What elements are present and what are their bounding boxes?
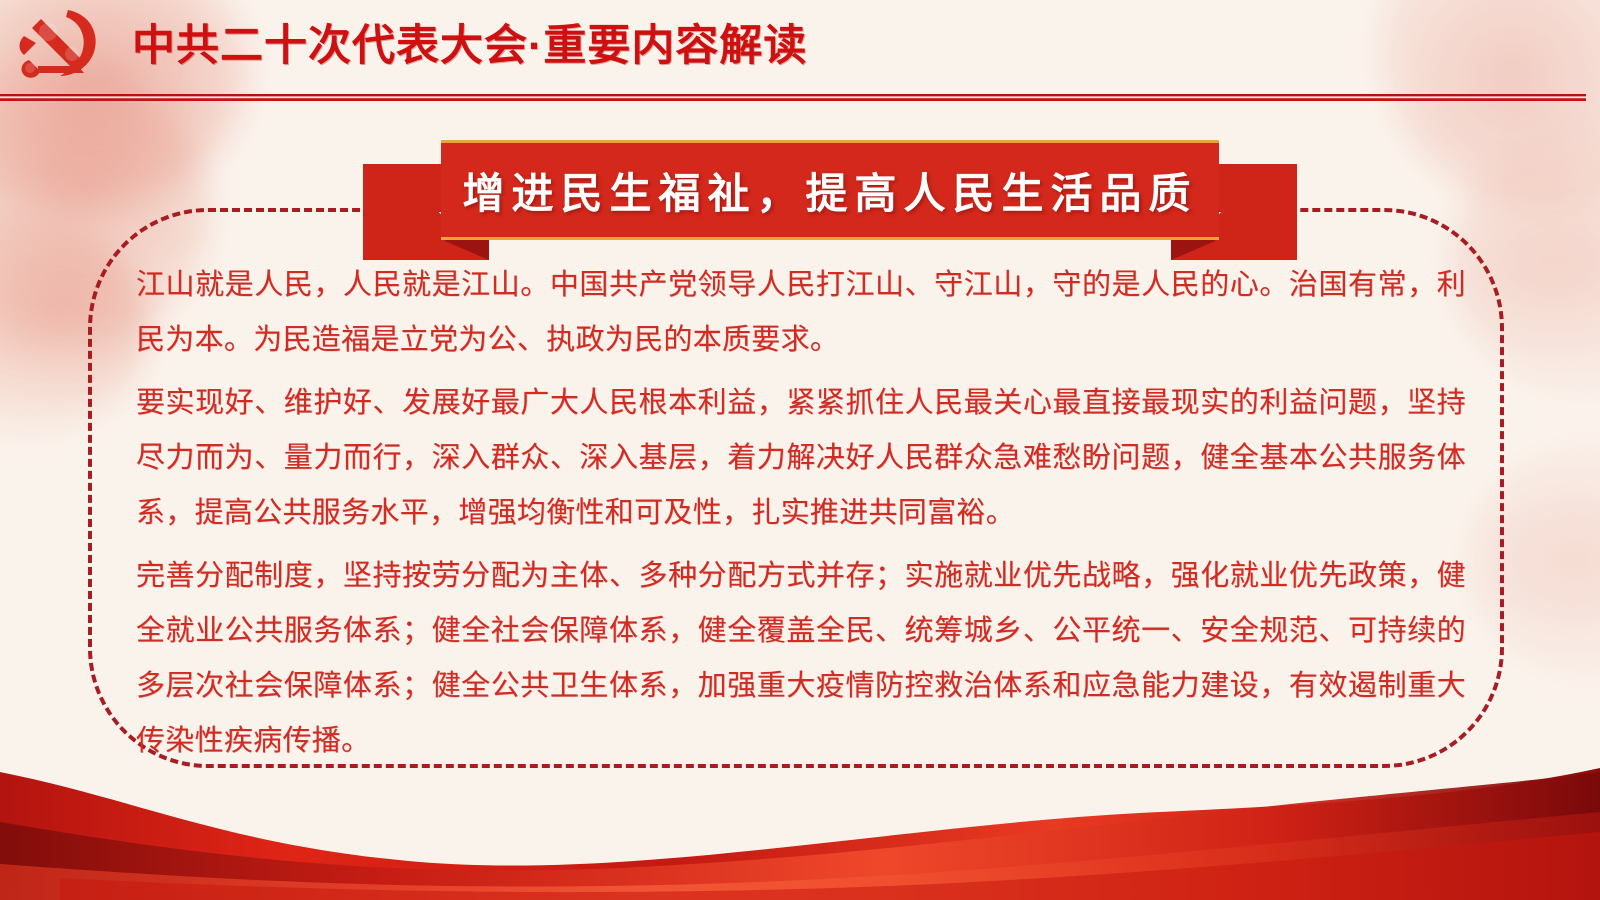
content-body: 江山就是人民，人民就是江山。中国共产党领导人民打江山、守江山，守的是人民的心。治… (136, 258, 1466, 777)
red-silk-wave-decoration (0, 760, 1600, 900)
slide-canvas: 中共二十次代表大会·重要内容解读 增进民生福祉，提高人民生活品质 江山就是人民，… (0, 0, 1600, 900)
paragraph: 完善分配制度，坚持按劳分配为主体、多种分配方式并存；实施就业优先战略，强化就业优… (136, 549, 1466, 769)
ribbon-body: 增进民生福祉，提高人民生活品质 (441, 140, 1219, 240)
banner-title: 增进民生福祉，提高人民生活品质 (462, 160, 1197, 221)
paragraph: 要实现好、维护好、发展好最广大人民根本利益，紧紧抓住人民最关心最直接最现实的利益… (136, 376, 1466, 541)
header-divider (0, 94, 1586, 101)
page-header: 中共二十次代表大会·重要内容解读 (0, 0, 1600, 96)
page-title: 中共二十次代表大会·重要内容解读 (132, 16, 807, 76)
hammer-sickle-emblem-icon (8, 2, 112, 94)
paragraph: 江山就是人民，人民就是江山。中国共产党领导人民打江山、守江山，守的是人民的心。治… (136, 258, 1466, 368)
banner-ribbon: 增进民生福祉，提高人民生活品质 (363, 140, 1297, 260)
